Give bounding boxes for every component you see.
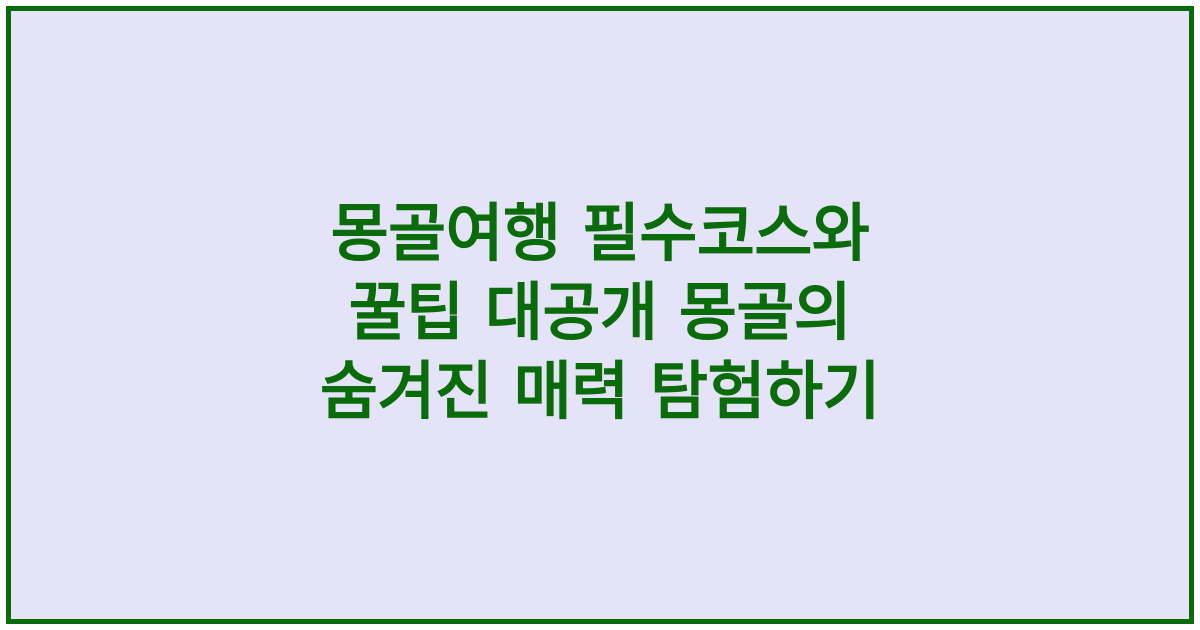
headline-line-2: 꿀팁 대공개 몽골의 bbox=[51, 273, 1149, 352]
thumbnail-card: 몽골여행 필수코스와 꿀팁 대공개 몽골의 숨겨진 매력 탐험하기 bbox=[6, 6, 1194, 624]
headline-block: 몽골여행 필수코스와 꿀팁 대공개 몽골의 숨겨진 매력 탐험하기 bbox=[11, 194, 1189, 431]
headline-line-3: 숨겨진 매력 탐험하기 bbox=[51, 352, 1149, 431]
headline-line-1: 몽골여행 필수코스와 bbox=[51, 194, 1149, 273]
thumbnail-canvas: 몽골여행 필수코스와 꿀팁 대공개 몽골의 숨겨진 매력 탐험하기 bbox=[0, 0, 1200, 630]
